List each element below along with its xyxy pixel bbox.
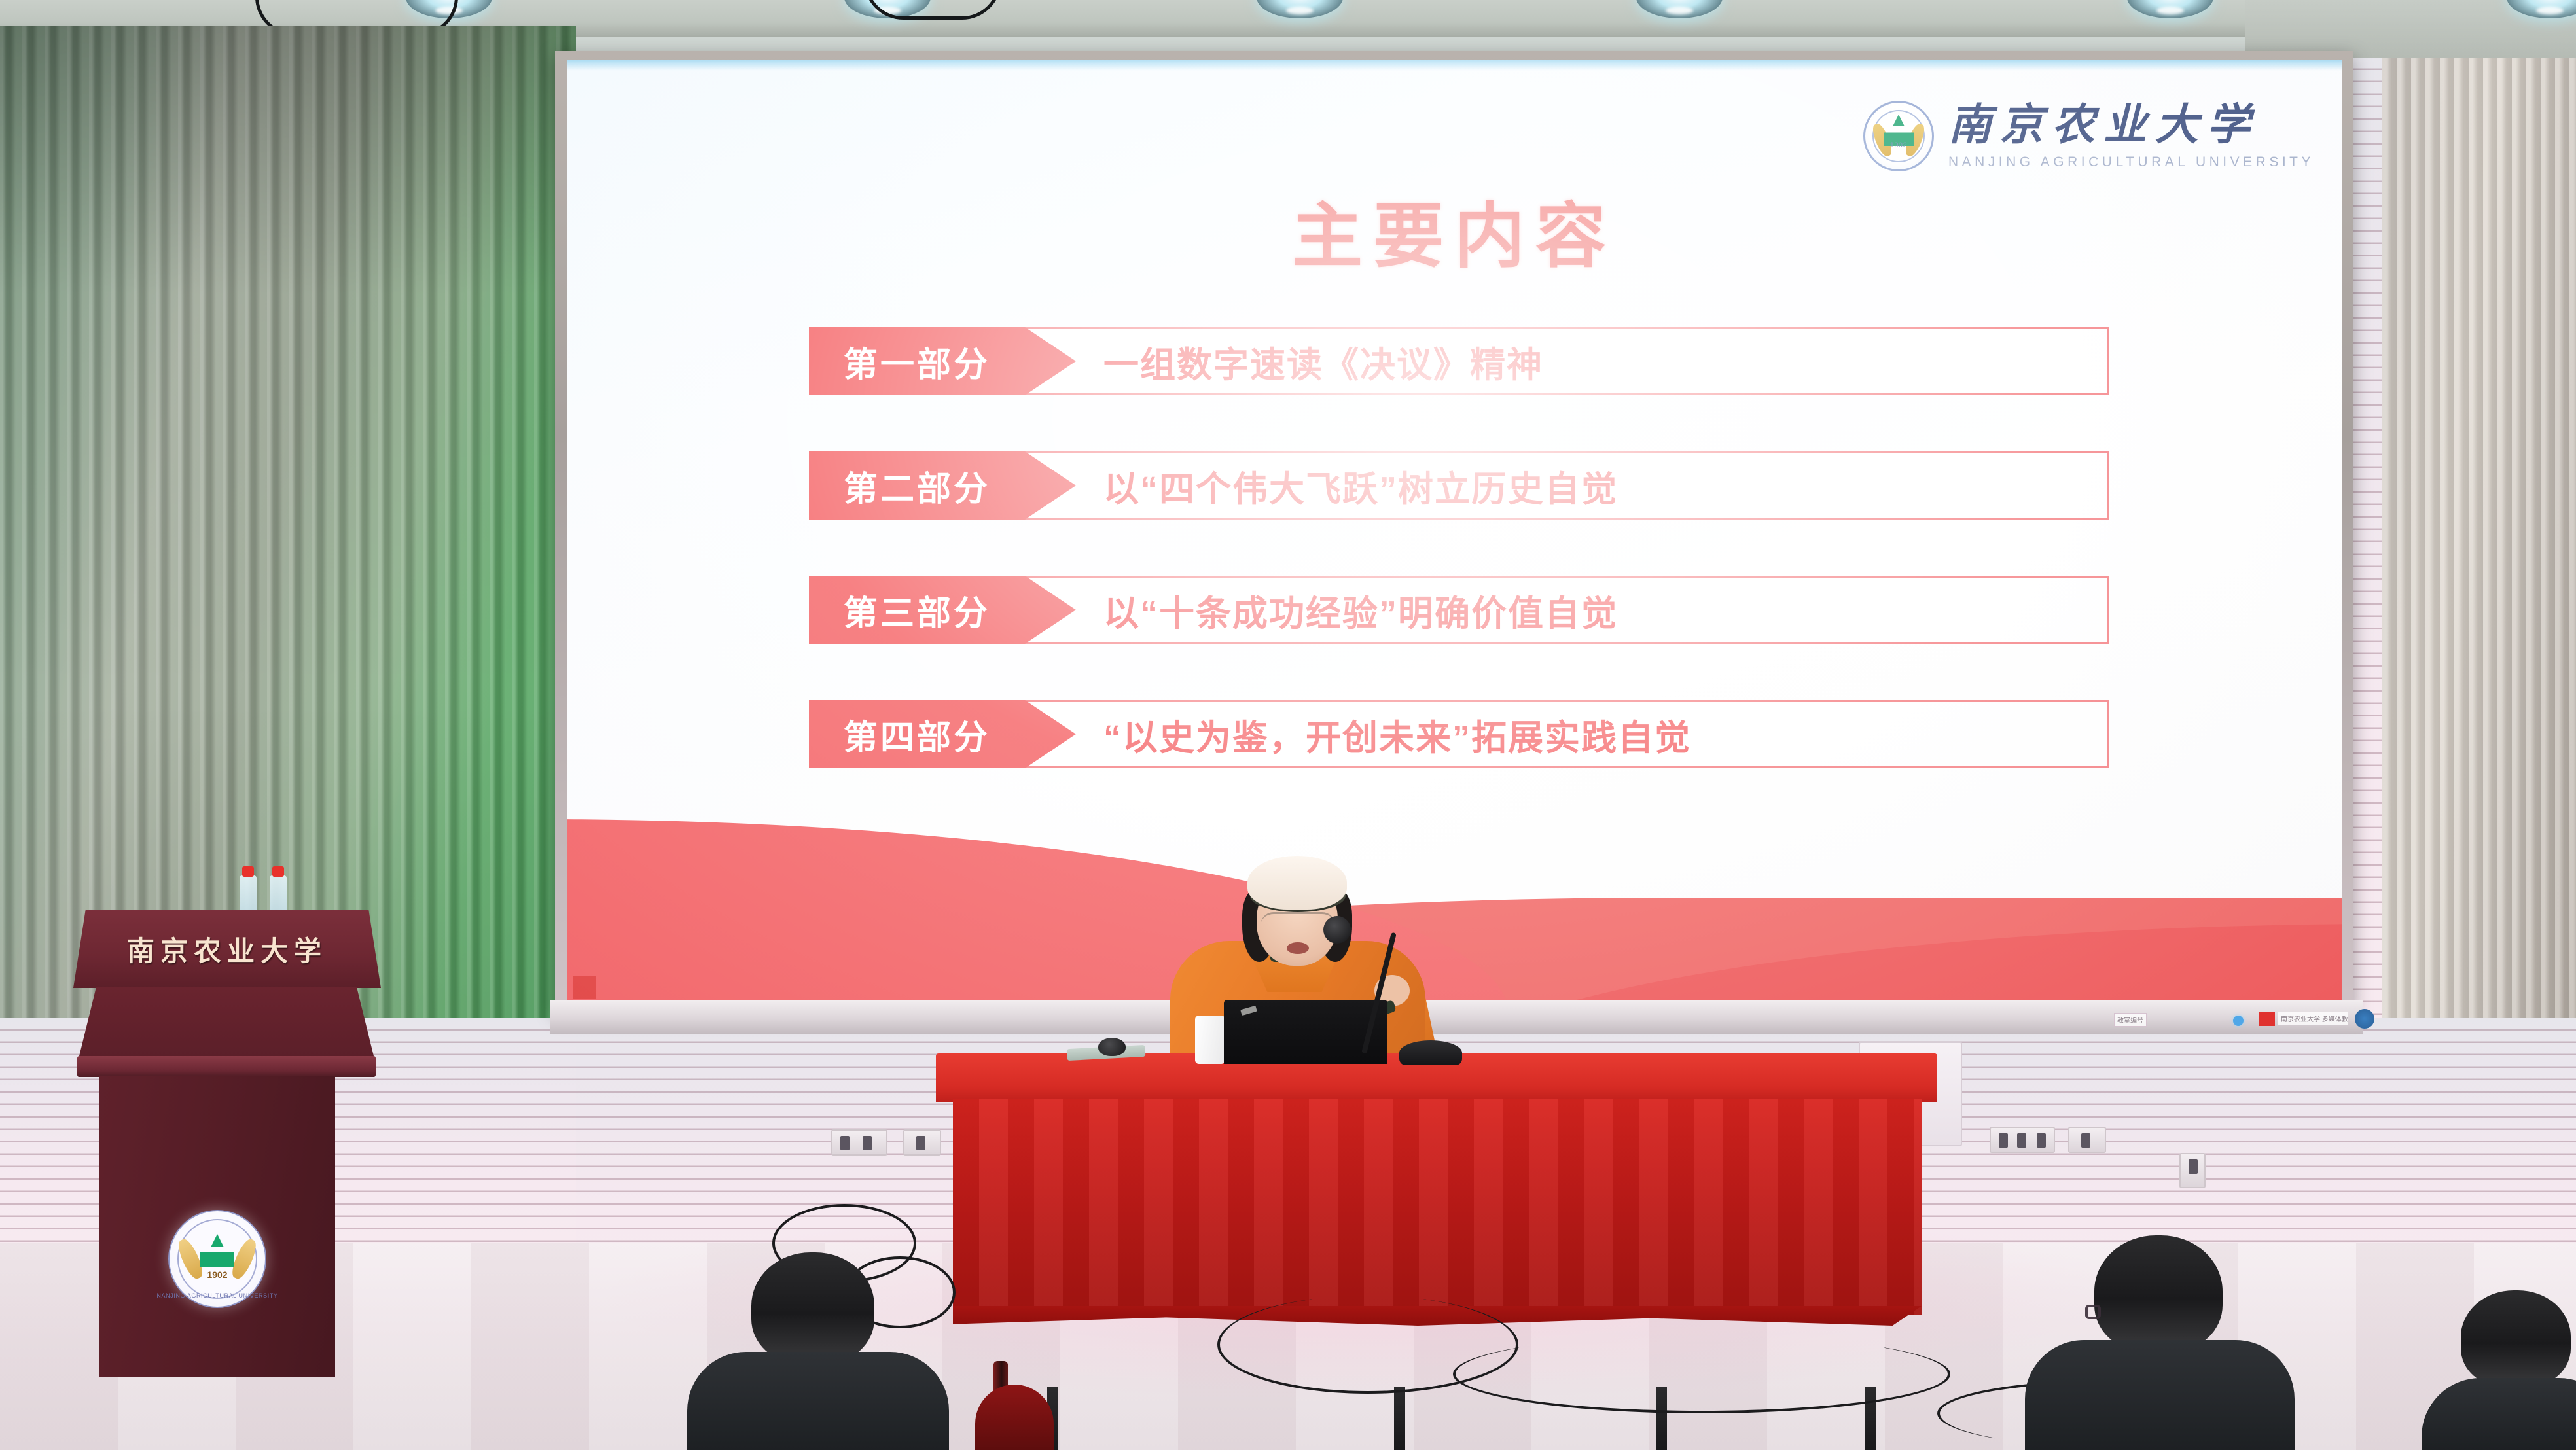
slide-content-rows: 第一部分 一组数字速读《决议》精神 第二部分 以“四个伟大飞跃”树立历史自觉 第… bbox=[809, 327, 2109, 824]
section-tag: 第三部分 bbox=[809, 576, 1025, 644]
lectern-column: 1902 NANJING AGRICULTURAL UNIVERSITY bbox=[99, 1076, 335, 1377]
presenter-mouth bbox=[1287, 942, 1309, 954]
table-cloth bbox=[953, 1099, 1922, 1315]
audience-shoulders bbox=[687, 1352, 949, 1450]
section-tag: 第四部分 bbox=[809, 700, 1025, 768]
audience-head bbox=[751, 1252, 874, 1364]
lectern[interactable]: 南京农业大学 1902 NANJING AGRICULTURAL UNIVERS… bbox=[59, 910, 386, 1381]
computer-mouse[interactable] bbox=[1098, 1038, 1126, 1056]
audience-member bbox=[2022, 1254, 2297, 1450]
audience-head bbox=[2461, 1290, 2571, 1387]
lecture-hall-scene: 1902 南京农业大学 NANJING AGRICULTURAL UNIVERS… bbox=[0, 0, 2576, 1450]
lectern-seal-icon: 1902 NANJING AGRICULTURAL UNIVERSITY bbox=[168, 1210, 266, 1308]
audience-seat-back bbox=[975, 1385, 1054, 1450]
lectern-ledge bbox=[77, 1056, 376, 1077]
indicator-light-icon bbox=[2233, 1016, 2244, 1026]
content-row[interactable]: 第四部分 “以史为鉴，开创未来”拓展实践自觉 bbox=[809, 700, 2109, 768]
wall-badge-icon bbox=[2355, 1009, 2374, 1029]
microphone-head-icon[interactable] bbox=[1323, 916, 1351, 944]
seal-year-label: 1902 bbox=[1890, 141, 1907, 149]
lectern-body bbox=[79, 987, 374, 1059]
audience-shoulders bbox=[2422, 1378, 2576, 1450]
slide-title: 主要内容 bbox=[567, 179, 2342, 281]
floor-cable bbox=[1453, 1335, 1950, 1413]
table-leg bbox=[1394, 1387, 1405, 1450]
audience-head bbox=[2094, 1235, 2223, 1352]
presentation-slide[interactable]: 1902 南京农业大学 NANJING AGRICULTURAL UNIVERS… bbox=[567, 60, 2342, 1002]
shield-icon bbox=[200, 1242, 234, 1267]
lectern-header: 南京农业大学 bbox=[73, 910, 381, 988]
university-name-cn: 南京农业大学 bbox=[1948, 104, 2314, 147]
section-tag: 第二部分 bbox=[809, 451, 1025, 520]
slide-corner-stamp-icon bbox=[573, 976, 596, 999]
audience-shoulders bbox=[2025, 1340, 2295, 1450]
notice-marker-icon bbox=[2259, 1012, 2275, 1026]
lectern-university-name: 南京农业大学 bbox=[127, 929, 327, 969]
audience-member bbox=[681, 1280, 956, 1450]
wall-outlet[interactable] bbox=[831, 1129, 887, 1156]
water-bottle[interactable] bbox=[270, 875, 287, 913]
university-logo: 1902 南京农业大学 NANJING AGRICULTURAL UNIVERS… bbox=[1863, 101, 2314, 171]
wall-outlet[interactable] bbox=[2068, 1127, 2106, 1153]
content-row[interactable]: 第三部分 以“十条成功经验”明确价值自觉 bbox=[809, 576, 2109, 644]
slide-top-glow bbox=[567, 60, 2342, 71]
laptop[interactable] bbox=[1224, 1000, 1387, 1064]
university-name-en: NANJING AGRICULTURAL UNIVERSITY bbox=[1948, 155, 2314, 169]
wall-notice-label: 南京农业大学 多媒体教室使用须知 bbox=[2278, 1012, 2348, 1025]
wall-small-label: 教室编号 bbox=[2114, 1013, 2147, 1027]
water-bottle[interactable] bbox=[240, 875, 257, 913]
presenter-cap bbox=[1247, 856, 1347, 910]
wall-outlet[interactable] bbox=[1990, 1127, 2055, 1153]
section-text: 以“四个伟大飞跃”树立历史自觉 bbox=[1025, 453, 2107, 518]
audience-glasses bbox=[2085, 1305, 2101, 1319]
content-row[interactable]: 第一部分 一组数字速读《决议》精神 bbox=[809, 327, 2109, 395]
section-tag: 第一部分 bbox=[809, 327, 1025, 395]
lectern-seal-year: 1902 bbox=[207, 1269, 227, 1280]
lectern-seal-arc-text: NANJING AGRICULTURAL UNIVERSITY bbox=[156, 1292, 277, 1299]
presenter-glasses bbox=[1261, 912, 1335, 925]
university-seal-icon: 1902 bbox=[1863, 101, 1934, 171]
content-row[interactable]: 第二部分 以“四个伟大飞跃”树立历史自觉 bbox=[809, 451, 2109, 520]
stage-curtain-right bbox=[2382, 58, 2576, 1052]
section-text: 一组数字速读《决议》精神 bbox=[1025, 329, 2107, 393]
university-logo-text: 南京农业大学 NANJING AGRICULTURAL UNIVERSITY bbox=[1948, 104, 2314, 169]
audience-member bbox=[2422, 1319, 2576, 1450]
microphone-base[interactable] bbox=[1399, 1040, 1462, 1065]
audience-member bbox=[975, 1378, 1054, 1450]
section-text: “以史为鉴，开创未来”拓展实践自觉 bbox=[1025, 702, 2107, 766]
screen-bottom-sill bbox=[550, 1000, 2363, 1034]
wall-outlet[interactable] bbox=[2179, 1153, 2206, 1188]
section-text: 以“十条成功经验”明确价值自觉 bbox=[1025, 578, 2107, 642]
paper-cup[interactable] bbox=[1195, 1016, 1225, 1064]
